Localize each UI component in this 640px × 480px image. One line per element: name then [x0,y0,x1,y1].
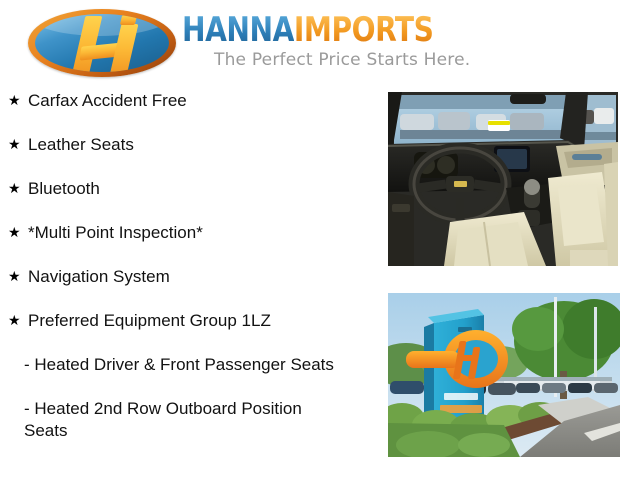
list-item-label: Leather Seats [28,135,134,154]
vehicle-interior-photo-graphic [388,92,618,266]
logo-oval-fill [35,14,169,72]
list-item-label: Navigation System [28,267,170,286]
list-item-label: Preferred Equipment Group 1LZ [28,311,271,330]
list-item-label: Carfax Accident Free [28,91,187,110]
list-item: ★ Navigation System [0,266,372,287]
list-item-label: Bluetooth [28,179,100,198]
star-icon: ★ [8,266,21,287]
dealership-sign-photo-graphic [388,293,620,457]
list-item: ★ Bluetooth [0,178,372,199]
star-icon: ★ [8,134,21,155]
dealer-logo-header: HANNAIMPORTS The Perfect Price Starts He… [0,0,640,84]
dealership-sign-photo[interactable] [388,293,620,457]
star-icon: ★ [8,222,21,243]
hanna-oval-h-logo-icon [28,9,176,77]
logo-wordmark: HANNAIMPORTS [182,13,433,47]
vehicle-feature-list: ★ Carfax Accident Free ★ Leather Seats ★… [0,90,372,464]
list-item: ★ Preferred Equipment Group 1LZ [0,310,372,331]
logo-wordmark-imports: IMPORTS [294,10,434,50]
list-item: ★ Leather Seats [0,134,372,155]
star-icon: ★ [8,178,21,199]
list-item: ★ Carfax Accident Free [0,90,372,111]
logo-h-dot [120,15,137,25]
sub-list-item: - Heated Driver & Front Passenger Seats [24,354,344,376]
star-icon: ★ [8,310,21,331]
vehicle-interior-photo[interactable] [388,92,618,266]
list-item: ★ *Multi Point Inspection* [0,222,372,243]
logo-tagline: The Perfect Price Starts Here. [214,50,470,70]
star-icon: ★ [8,90,21,111]
logo-wordmark-hanna: HANNA [182,10,294,50]
list-item-label: *Multi Point Inspection* [28,223,203,242]
sub-list-item: - Heated 2nd Row Outboard Position Seats [24,398,344,442]
